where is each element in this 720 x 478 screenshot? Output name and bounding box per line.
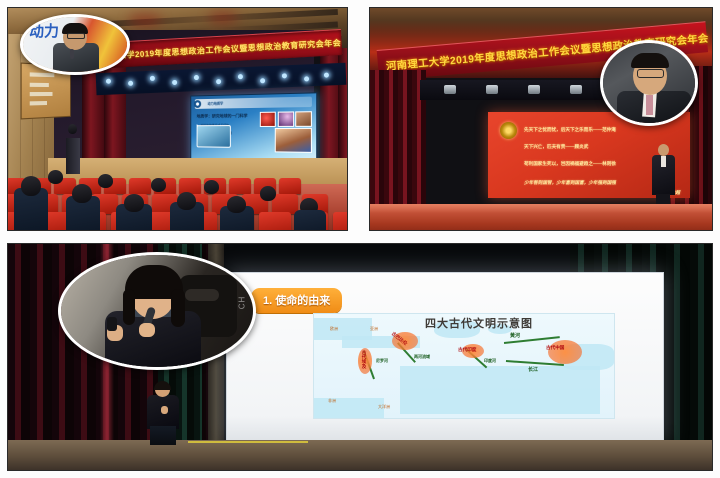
inset-hair (631, 53, 669, 68)
map-title: 四大古代文明示意图 (425, 315, 533, 331)
sea-area (314, 398, 384, 418)
presenter-skirt (150, 426, 176, 445)
river-label: 印度河 (484, 358, 496, 364)
audience-head (21, 176, 41, 196)
audience-head (48, 170, 63, 184)
continent-label: 大洋洲 (378, 404, 390, 410)
panel-stage-red-screen-shot: 河南理工大学2019年度思想政治工作会议暨思想政治教育研究会年会 先天下之忧而忧… (369, 7, 713, 231)
slide-diagram-cross-section (275, 128, 312, 153)
civilization-label: 古代埃及 (361, 350, 367, 368)
audience-head (72, 184, 92, 203)
slide-quote-line: 苟利国家生死以，岂因祸福避趋之——林则徐 (524, 161, 616, 167)
inset-clicker-icon (107, 317, 117, 331)
inset-hair-side (123, 289, 135, 325)
inset-portrait-female-speaker: CH (58, 252, 256, 370)
presenter-hand (161, 406, 168, 414)
civilization-label: 古代印度 (458, 347, 476, 353)
photo-collage: 河南理工大学2019年度思想政治工作会议暨思想政治教育研究会年会 动力地质学 地… (0, 0, 720, 478)
river-label: 两河流域 (414, 354, 430, 360)
civilization-zone (548, 340, 582, 364)
slide-section-badge: 1. 使命的由来 (251, 288, 342, 313)
presenter-head (658, 144, 669, 156)
inset-tie (646, 95, 653, 115)
audience-head (204, 180, 219, 194)
audience-head (124, 194, 144, 212)
inset-hair-side (171, 289, 185, 327)
seat-row (7, 194, 328, 214)
slide-title: 地质学：研究地球的一门科学 (197, 113, 248, 119)
civilization-label: 古代中国 (546, 345, 564, 351)
audience-head (98, 174, 113, 188)
inset-camera-icon (185, 289, 219, 301)
slide-quote-line: 先天下之忧而忧，后天下之乐而乐——范仲淹 (524, 127, 616, 133)
presenter-hair (154, 381, 171, 390)
slide-section-badge-text: 1. 使命的由来 (263, 295, 330, 307)
continent-label: 非洲 (328, 398, 336, 404)
microphone-icon (70, 49, 74, 59)
projection-screen: 1. 使命的由来 欧洲 亚洲 非洲 大洋洲 (226, 272, 664, 442)
stage-tape-line (188, 441, 308, 443)
ceiling-light (208, 12, 238, 23)
stage-floor (370, 204, 713, 231)
speaker-podium (66, 138, 80, 174)
inset-portrait-young-male-speaker (600, 40, 698, 126)
river-label: 黄河 (510, 332, 520, 339)
audience-head (227, 196, 246, 213)
river-label: 长江 (528, 366, 538, 373)
slide-quote-line: 少年智则国智，少年富则国富，少年强则国强 (524, 180, 616, 186)
emblem-icon (500, 122, 517, 139)
ceiling-light (128, 14, 162, 26)
presenter-shirt (661, 156, 666, 167)
audience-head (151, 178, 166, 192)
inset-watermark: CH (238, 295, 247, 309)
slide-diagram-globe (197, 125, 231, 148)
continent-label: 欧洲 (330, 326, 338, 332)
stage-floor (8, 440, 713, 470)
inset-caption-text: 动力 (29, 25, 59, 39)
slide-header-text: 动力地质学 (208, 100, 224, 105)
presenter-head (68, 124, 77, 134)
audience-head (177, 192, 196, 210)
slide-header-bar: 动力地质学 (195, 97, 312, 109)
indian-ocean (400, 366, 600, 414)
panel-lecture-hall-projection-shot: 1. 使命的由来 欧洲 亚洲 非洲 大洋洲 (7, 243, 713, 471)
slide-image-thumbnails (260, 111, 312, 127)
slide-quote-line: 天下兴亡，匹夫有责——顾炎武 (524, 144, 588, 150)
inset-portrait-male-speaker: 动力 (20, 14, 130, 75)
presenter-on-stage (143, 382, 183, 444)
audience-head (260, 186, 276, 201)
glasses-icon (67, 33, 85, 39)
continent-label: 亚洲 (370, 326, 378, 332)
presenter-on-stage (652, 144, 676, 206)
inset-hand (139, 323, 155, 337)
stage-curtain-left (370, 70, 426, 220)
river-label: 尼罗河 (376, 358, 388, 364)
glasses-icon (637, 69, 664, 78)
audience-member (294, 210, 326, 231)
panel-auditorium-wide-shot: 河南理工大学2019年度思想政治工作会议暨思想政治教育研究会年会 动力地质学 地… (7, 7, 348, 231)
